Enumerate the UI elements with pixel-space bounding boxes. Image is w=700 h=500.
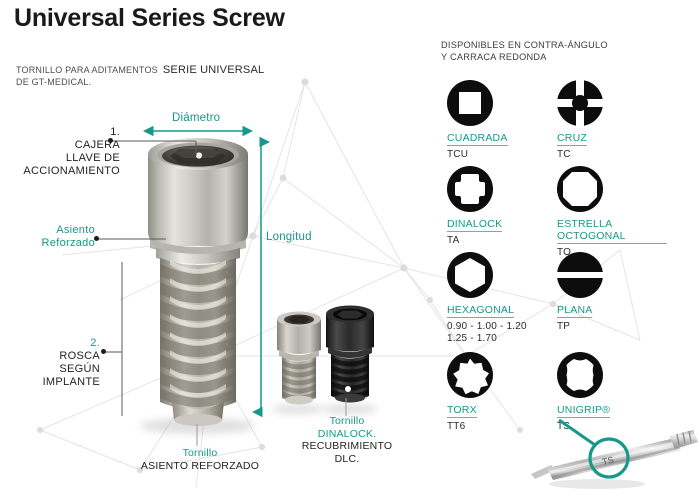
driver-code-cuadrada: TCU (447, 149, 557, 161)
octagon-driver-icon (557, 166, 603, 212)
annotation-cajera: 1. CAJERA LLAVE DE ACCIONAMIENTO (0, 126, 120, 178)
annotation-asiento-line1: Asiento (0, 224, 95, 237)
flat-driver-icon (557, 252, 603, 298)
hexagon-driver-icon (447, 252, 493, 298)
caption-dinalock-line1: Tornillo (288, 415, 406, 428)
panel-heading: DISPONIBLES EN CONTRA-ÁNGULO Y CARRACA R… (441, 40, 608, 63)
driver-option-cruz[interactable]: CRUZ TC (557, 80, 667, 161)
driver-code2-hexagonal: 1.25 - 1.70 (447, 333, 557, 345)
rosca-leader-dot (101, 349, 106, 354)
driver-code-hexagonal: 0.90 - 1.00 - 1.20 (447, 321, 557, 333)
driver-name-cuadrada: CUADRADA (447, 132, 508, 146)
subtitle-small-line1: TORNILLO PARA ADITAMENTOS (16, 65, 158, 75)
annotation-cajera-line3: ACCIONAMIENTO (0, 165, 120, 178)
driver-name-plana: PLANA (557, 304, 592, 318)
caption-dinalock-line3: RECUBRIMIENTO DLC. (288, 440, 406, 465)
torx-driver-icon (447, 352, 493, 398)
annotation-cajera-line2: LLAVE DE (0, 152, 120, 165)
driver-tool-illustration: TS (525, 418, 700, 498)
annotation-cajera-number: 1. (0, 126, 120, 139)
annotation-asiento: Asiento Reforzado (0, 224, 95, 250)
annotation-rosca-number: 2. (0, 337, 100, 350)
subtitle-block: TORNILLO PARA ADITAMENTOSSERIE UNIVERSAL… (16, 63, 264, 88)
unigrip-driver-icon (557, 352, 603, 398)
cajera-leader-dot (108, 138, 113, 143)
driver-option-estrella-octogonal[interactable]: ESTRELLA OCTOGONAL TO (557, 166, 667, 259)
caption-dinalock-line2: DINALOCK. (288, 428, 406, 441)
annotation-asiento-line2: Reforzado (0, 237, 95, 250)
driver-name-hexagonal: HEXAGONAL (447, 304, 514, 318)
page-title: Universal Series Screw (14, 4, 285, 33)
driver-code-cruz: TC (557, 149, 667, 161)
diameter-label: Diámetro (172, 112, 220, 124)
square-driver-icon (447, 80, 493, 126)
length-label: Longitud (266, 231, 312, 243)
infographic-canvas: Universal Series Screw TORNILLO PARA ADI… (0, 0, 700, 500)
driver-name-unigrip: UNIGRIP® (557, 404, 610, 418)
driver-option-cuadrada[interactable]: CUADRADA TCU (447, 80, 557, 161)
caption-main-screw: Tornillo ASIENTO REFORZADO (120, 447, 280, 472)
driver-option-plana[interactable]: PLANA TP (557, 252, 667, 333)
caption-dinalock-screw: Tornillo DINALOCK. RECUBRIMIENTO DLC. (288, 415, 406, 465)
driver-name-dinalock: DINALOCK (447, 218, 502, 232)
annotation-rosca-line1: ROSCA (0, 350, 100, 363)
panel-heading-line1: DISPONIBLES EN CONTRA-ÁNGULO (441, 40, 608, 52)
driver-option-hexagonal[interactable]: HEXAGONAL 0.90 - 1.00 - 1.20 1.25 - 1.70 (447, 252, 557, 344)
annotation-rosca: 2. ROSCA SEGÚN IMPLANTE (0, 337, 100, 389)
cross-driver-icon (557, 80, 603, 126)
subtitle-small-line2: DE GT-MEDICAL. (16, 77, 264, 89)
driver-code-dinalock: TA (447, 235, 557, 247)
annotation-cajera-line1: CAJERA (0, 139, 120, 152)
caption-main-line1: Tornillo (120, 447, 280, 460)
tool-callout-leader (559, 420, 595, 445)
panel-heading-line2: Y CARRACA REDONDA (441, 52, 608, 64)
caption-main-line2: ASIENTO REFORZADO (120, 460, 280, 473)
dinalock-driver-icon (447, 166, 493, 212)
subtitle-series: SERIE UNIVERSAL (163, 64, 264, 76)
annotation-rosca-line3: IMPLANTE (0, 376, 100, 389)
driver-name-estrella-octogonal: ESTRELLA OCTOGONAL (557, 218, 667, 244)
annotation-rosca-line2: SEGÚN (0, 363, 100, 376)
asiento-leader-dot (94, 236, 99, 241)
driver-code-plana: TP (557, 321, 667, 333)
driver-name-torx: TORX (447, 404, 477, 418)
driver-name-cruz: CRUZ (557, 132, 587, 146)
driver-option-dinalock[interactable]: DINALOCK TA (447, 166, 557, 247)
